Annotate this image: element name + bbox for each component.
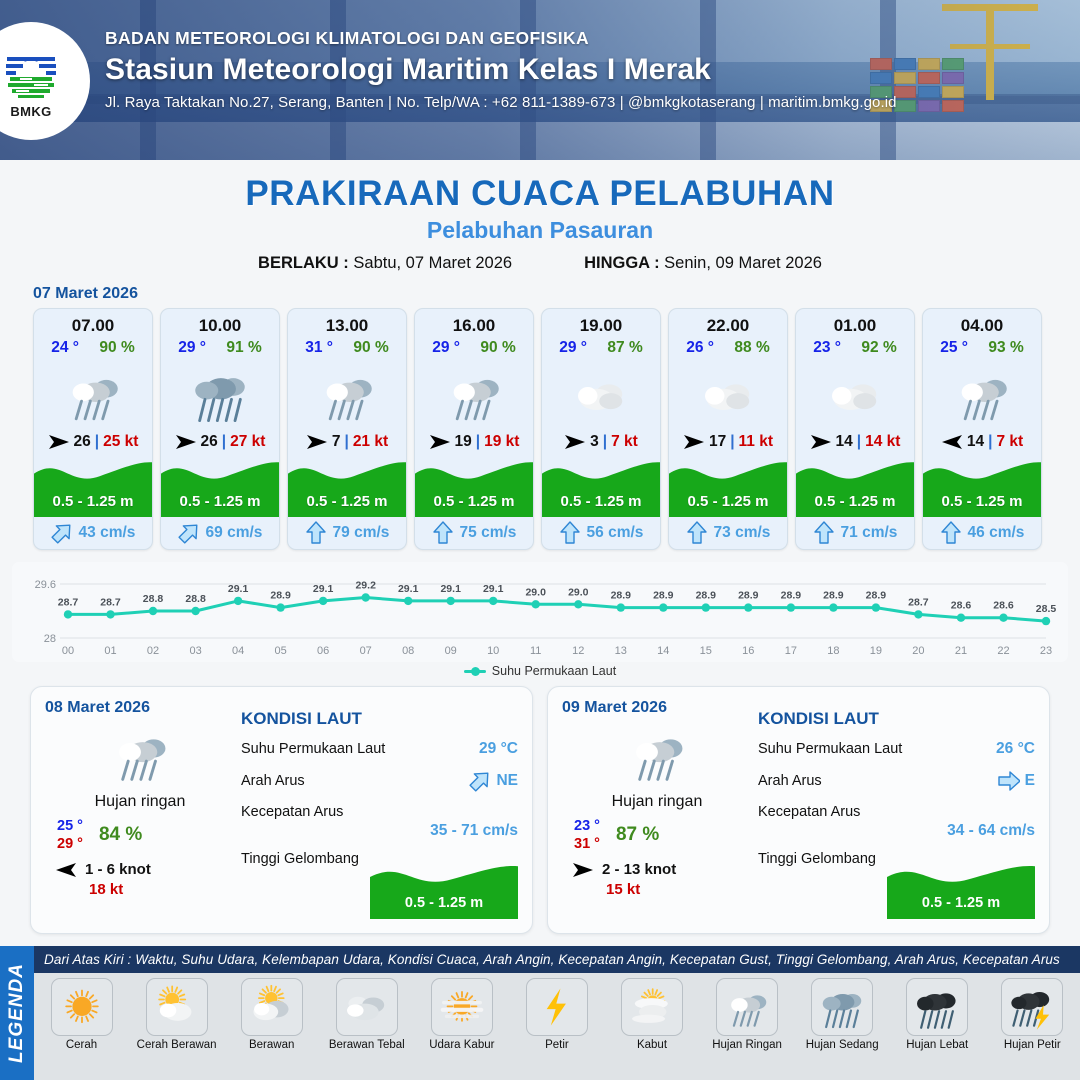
card-time: 22.00 (669, 309, 787, 336)
sea-wave-value: 0.5 - 1.25 m (887, 895, 1035, 911)
card-wind: 17 | 11 kt (669, 433, 787, 455)
validity-row: BERLAKU : Sabtu, 07 Maret 2026 HINGGA : … (0, 254, 1080, 273)
svg-text:28.7: 28.7 (100, 596, 121, 608)
haze-icon (434, 983, 490, 1031)
valid-from-value: Sabtu, 07 Maret 2026 (353, 254, 512, 272)
light-rain-icon (438, 364, 510, 426)
sea-sst-value: 26 °C (996, 740, 1035, 758)
legend-icon-box (716, 978, 778, 1036)
svg-text:29.1: 29.1 (398, 583, 419, 595)
forecast-card[interactable]: 01.00 23 ° 92 % 14 | 14 kt 0.5 - 1.25 m (795, 308, 915, 550)
daily-forecast-card[interactable]: 09 Maret 2026 Hujan ringan 23 ° 31 ° 87 … (547, 686, 1050, 934)
card-wind: 3 | 7 kt (542, 433, 660, 455)
legend-item: Petir (515, 978, 599, 1051)
day-temp-max: 29 ° (57, 835, 83, 853)
svg-text:05: 05 (274, 645, 286, 657)
day-temp-min: 23 ° (574, 817, 600, 835)
card-wind: 19 | 19 kt (415, 433, 533, 455)
day-wind-range: 1 - 6 knot (85, 861, 151, 878)
svg-text:28.6: 28.6 (951, 600, 972, 612)
svg-text:09: 09 (445, 645, 457, 657)
legend-item: Berawan Tebal (325, 978, 409, 1051)
sea-current-speed-value-row: 35 - 71 cm/s (241, 822, 518, 840)
thunderstorm-icon (1004, 983, 1060, 1031)
card-wave-height: 0.5 - 1.25 m (288, 493, 406, 510)
svg-text:15: 15 (700, 645, 712, 657)
current-direction-north-icon (940, 521, 962, 545)
legend-note: Dari Atas Kiri : Waktu, Suhu Udara, Kele… (34, 946, 1080, 973)
day-gust: 18 kt (45, 881, 235, 898)
svg-text:28: 28 (44, 633, 56, 645)
card-current-speed: 56 cm/s (587, 524, 644, 542)
sea-conditions-title: KONDISI LAUT (758, 709, 1035, 729)
current-direction-north-icon (686, 521, 708, 545)
svg-text:13: 13 (615, 645, 627, 657)
sea-current-speed-row: Kecepatan Arus (758, 804, 1035, 820)
light-rain-icon (620, 723, 694, 787)
card-temp-humidity: 29 ° 91 % (161, 336, 279, 357)
card-time: 19.00 (542, 309, 660, 336)
svg-text:28.8: 28.8 (185, 593, 206, 605)
card-current-speed: 73 cm/s (714, 524, 771, 542)
card-wave: 0.5 - 1.25 m (161, 455, 279, 517)
card-gust-speed: 19 kt (484, 433, 519, 451)
legend-item-label: Cerah Berawan (135, 1039, 219, 1051)
card-wind: 14 | 7 kt (923, 433, 1041, 455)
card-gust-speed: 7 kt (611, 433, 638, 451)
card-temp-humidity: 26 ° 88 % (669, 336, 787, 357)
svg-text:20: 20 (912, 645, 924, 657)
legend-side-bar: LEGENDA (0, 946, 34, 1080)
day-date: 09 Maret 2026 (562, 699, 752, 717)
sea-current-dir-value: NE (496, 772, 518, 790)
card-weather-icon (669, 357, 787, 433)
valid-from: BERLAKU : Sabtu, 07 Maret 2026 (258, 254, 512, 273)
page-title: PRAKIRAAN CUACA PELABUHAN (0, 174, 1080, 214)
card-wind-direction: 26 (74, 433, 91, 451)
svg-text:29.0: 29.0 (568, 586, 589, 598)
legend-item: Hujan Petir (990, 978, 1074, 1051)
card-current-speed: 69 cm/s (206, 524, 263, 542)
svg-text:28.5: 28.5 (1036, 603, 1057, 615)
day-wind-range: 2 - 13 knot (602, 861, 676, 878)
svg-text:02: 02 (147, 645, 159, 657)
sea-wave-graphic: 0.5 - 1.25 m (887, 859, 1035, 919)
legend-item-label: Hujan Ringan (705, 1039, 789, 1051)
svg-text:01: 01 (104, 645, 116, 657)
current-direction-northeast-icon (469, 769, 491, 793)
day-temperature-block: 23 ° 31 ° 87 % (562, 817, 752, 853)
svg-text:04: 04 (232, 645, 244, 657)
card-wave-height: 0.5 - 1.25 m (796, 493, 914, 510)
legend-item: Hujan Sedang (800, 978, 884, 1051)
thick-cloud-icon (339, 983, 395, 1031)
card-wave-height: 0.5 - 1.25 m (542, 493, 660, 510)
card-current-speed: 79 cm/s (333, 524, 390, 542)
sst-chart: 29.62828.70028.70128.80228.80329.10428.9… (12, 562, 1068, 662)
legend-item: Cerah Berawan (135, 978, 219, 1051)
lightning-icon (529, 983, 585, 1031)
page-subtitle: Pelabuhan Pasauran (0, 217, 1080, 244)
legend-icon-box (241, 978, 303, 1036)
wind-direction-east-icon (306, 434, 328, 450)
svg-text:10: 10 (487, 645, 499, 657)
card-gust-speed: 7 kt (996, 433, 1023, 451)
card-wind-direction: 26 (201, 433, 218, 451)
svg-text:16: 16 (742, 645, 754, 657)
card-wave-height: 0.5 - 1.25 m (34, 493, 152, 510)
svg-text:28.9: 28.9 (653, 590, 674, 602)
legend-marker-icon (464, 670, 486, 673)
card-wave-height: 0.5 - 1.25 m (923, 493, 1041, 510)
svg-text:28.7: 28.7 (908, 596, 929, 608)
station-name: Stasiun Meteorologi Maritim Kelas I Mera… (105, 53, 1055, 87)
legend-item-label: Berawan (230, 1039, 314, 1051)
current-direction-north-icon (432, 521, 454, 545)
sea-conditions-title: KONDISI LAUT (241, 709, 518, 729)
card-time: 04.00 (923, 309, 1041, 336)
day-temp-min: 25 ° (57, 817, 83, 835)
forecast-card[interactable]: 16.00 29 ° 90 % 19 | 19 kt 0.5 - 1.25 m (414, 308, 534, 550)
card-temp-humidity: 29 ° 90 % (415, 336, 533, 357)
fog-icon (624, 983, 680, 1031)
sea-current-dir-value-wrap: E (998, 769, 1035, 793)
light-rain-icon (57, 364, 129, 426)
sst-chart-svg: 29.62828.70028.70128.80228.80329.10428.9… (16, 568, 1064, 660)
moderate-rain-icon (184, 364, 256, 426)
forecast-card[interactable]: 22.00 26 ° 88 % 17 | 11 kt 0.5 - 1.25 m (668, 308, 788, 550)
legend-body: Dari Atas Kiri : Waktu, Suhu Udara, Kele… (34, 946, 1080, 1080)
card-wave: 0.5 - 1.25 m (415, 455, 533, 517)
current-direction-east-icon (998, 769, 1020, 793)
card-humidity: 93 % (988, 339, 1023, 357)
svg-text:29.1: 29.1 (440, 583, 461, 595)
card-wave: 0.5 - 1.25 m (923, 455, 1041, 517)
agency-name: BADAN METEOROLOGI KLIMATOLOGI DAN GEOFIS… (105, 28, 1055, 49)
day-left-panel: 09 Maret 2026 Hujan ringan 23 ° 31 ° 87 … (562, 699, 752, 921)
card-current: 79 cm/s (288, 517, 406, 549)
day-humidity: 84 % (99, 824, 142, 846)
daily-forecast-card[interactable]: 08 Maret 2026 Hujan ringan 25 ° 29 ° 84 … (30, 686, 533, 934)
day-temperature-block: 25 ° 29 ° 84 % (45, 817, 235, 853)
card-humidity: 87 % (607, 339, 642, 357)
svg-text:29.6: 29.6 (35, 579, 56, 591)
svg-text:29.1: 29.1 (483, 583, 504, 595)
day-gust: 15 kt (562, 881, 752, 898)
svg-text:29.0: 29.0 (525, 586, 546, 598)
light-rain-icon (946, 364, 1018, 426)
title-block: PRAKIRAAN CUACA PELABUHAN Pelabuhan Pasa… (0, 160, 1080, 273)
svg-text:08: 08 (402, 645, 414, 657)
legend-items: Cerah Cerah Berawan Berawan Berawan Teba… (34, 973, 1080, 1080)
card-wind-direction: 14 (967, 433, 984, 451)
card-wind: 14 | 14 kt (796, 433, 914, 455)
current-direction-north-icon (305, 521, 327, 545)
card-current: 71 cm/s (796, 517, 914, 549)
forecast-card[interactable]: 19.00 29 ° 87 % 3 | 7 kt 0.5 - 1.25 m (541, 308, 661, 550)
sea-current-speed-label: Kecepatan Arus (758, 804, 860, 820)
card-temp-humidity: 29 ° 87 % (542, 336, 660, 357)
card-temperature: 29 ° (432, 339, 460, 357)
card-wind-separator: | (222, 433, 226, 451)
card-temp-humidity: 23 ° 92 % (796, 336, 914, 357)
legend-item-label: Hujan Sedang (800, 1039, 884, 1051)
card-temperature: 29 ° (559, 339, 587, 357)
svg-text:29.2: 29.2 (355, 580, 376, 592)
card-weather-icon (288, 357, 406, 433)
sea-current-speed-value: 35 - 71 cm/s (430, 822, 518, 840)
card-weather-icon (542, 357, 660, 433)
legend-icon-box (1001, 978, 1063, 1036)
card-gust-speed: 27 kt (230, 433, 265, 451)
card-weather-icon (34, 357, 152, 433)
svg-text:28.9: 28.9 (611, 590, 632, 602)
legend-icon-box (526, 978, 588, 1036)
wind-direction-east-icon (572, 862, 594, 878)
sea-current-dir-value-wrap: NE (469, 769, 518, 793)
chart-legend-label: Suhu Permukaan Laut (492, 664, 616, 678)
sea-sst-row: Suhu Permukaan Laut 26 °C (758, 740, 1035, 758)
sea-sst-row: Suhu Permukaan Laut 29 °C (241, 740, 518, 758)
legend-icon-box (146, 978, 208, 1036)
card-gust-speed: 21 kt (353, 433, 388, 451)
header-text-block: BADAN METEOROLOGI KLIMATOLOGI DAN GEOFIS… (105, 28, 1055, 111)
legend-item-label: Cerah (40, 1039, 124, 1051)
day-humidity: 87 % (616, 824, 659, 846)
day-condition: Hujan ringan (45, 793, 235, 811)
card-temperature: 31 ° (305, 339, 333, 357)
card-humidity: 92 % (861, 339, 896, 357)
svg-text:07: 07 (360, 645, 372, 657)
sun-icon (54, 983, 110, 1031)
card-wind-separator: | (344, 433, 348, 451)
sea-sst-label: Suhu Permukaan Laut (758, 741, 902, 757)
wind-direction-east-icon (175, 434, 197, 450)
card-humidity: 88 % (734, 339, 769, 357)
card-wave: 0.5 - 1.25 m (542, 455, 660, 517)
svg-text:19: 19 (870, 645, 882, 657)
legend-icon-box (51, 978, 113, 1036)
card-wind-separator: | (988, 433, 992, 451)
card-current-speed: 71 cm/s (841, 524, 898, 542)
card-humidity: 90 % (480, 339, 515, 357)
valid-from-label: BERLAKU : (258, 254, 349, 272)
card-wave: 0.5 - 1.25 m (34, 455, 152, 517)
card-time: 01.00 (796, 309, 914, 336)
svg-text:28.9: 28.9 (866, 590, 887, 602)
cloudy-icon (692, 364, 764, 426)
legend-item-label: Hujan Lebat (895, 1039, 979, 1051)
card-wave-height: 0.5 - 1.25 m (669, 493, 787, 510)
current-direction-northeast-icon (51, 521, 73, 545)
legend-icon-box (336, 978, 398, 1036)
sea-wave-graphic: 0.5 - 1.25 m (370, 859, 518, 919)
day-sea-panel: KONDISI LAUT Suhu Permukaan Laut 26 °C A… (752, 699, 1035, 921)
card-wind-separator: | (95, 433, 99, 451)
svg-text:11: 11 (530, 645, 541, 657)
card-wind-direction: 14 (836, 433, 853, 451)
hourly-forecast-cards: 07.00 24 ° 90 % 26 | 25 kt 0.5 - 1.25 m (0, 308, 1080, 550)
card-humidity: 91 % (226, 339, 261, 357)
sea-current-speed-row: Kecepatan Arus (241, 804, 518, 820)
wind-direction-east-icon (429, 434, 451, 450)
card-wave: 0.5 - 1.25 m (669, 455, 787, 517)
legend-side-label: LEGENDA (6, 963, 28, 1063)
legend-item-label: Petir (515, 1039, 599, 1051)
day-left-panel: 08 Maret 2026 Hujan ringan 25 ° 29 ° 84 … (45, 699, 235, 921)
card-current-speed: 46 cm/s (968, 524, 1025, 542)
svg-text:12: 12 (572, 645, 584, 657)
card-time: 07.00 (34, 309, 152, 336)
card-temperature: 24 ° (51, 339, 79, 357)
card-current: 75 cm/s (415, 517, 533, 549)
sea-current-dir-value: E (1025, 772, 1035, 790)
heavy-rain-icon (909, 983, 965, 1031)
svg-text:23: 23 (1040, 645, 1052, 657)
card-wind: 26 | 27 kt (161, 433, 279, 455)
svg-text:28.9: 28.9 (270, 590, 291, 602)
card-wave: 0.5 - 1.25 m (796, 455, 914, 517)
sea-wave-value: 0.5 - 1.25 m (370, 895, 518, 911)
cloud-sun-icon (244, 983, 300, 1031)
wind-direction-east-icon (810, 434, 832, 450)
day-temp-range: 25 ° 29 ° (57, 817, 83, 853)
card-weather-icon (796, 357, 914, 433)
legend-icon-box (906, 978, 968, 1036)
card-wind-separator: | (730, 433, 734, 451)
day-wind: 2 - 13 knot (562, 861, 752, 878)
page-header: BMKG BADAN METEOROLOGI KLIMATOLOGI DAN G… (0, 0, 1080, 160)
day-condition: Hujan ringan (562, 793, 752, 811)
card-wind-separator: | (476, 433, 480, 451)
sea-current-speed-label: Kecepatan Arus (241, 804, 343, 820)
svg-text:14: 14 (657, 645, 669, 657)
svg-text:28.9: 28.9 (781, 590, 802, 602)
sea-wave-label: Tinggi Gelombang (241, 851, 359, 867)
card-wind-direction: 17 (709, 433, 726, 451)
card-temp-humidity: 24 ° 90 % (34, 336, 152, 357)
forecast-card[interactable]: 10.00 29 ° 91 % 26 | 27 kt 0.5 - 1.25 m (160, 308, 280, 550)
card-current: 43 cm/s (34, 517, 152, 549)
card-weather-icon (923, 357, 1041, 433)
moderate-rain-icon (814, 983, 870, 1031)
forecast-date-label: 07 Maret 2026 (33, 285, 1080, 303)
svg-text:17: 17 (785, 645, 797, 657)
card-weather-icon (415, 357, 533, 433)
legend-icon-box (621, 978, 683, 1036)
card-wind-separator: | (857, 433, 861, 451)
card-temperature: 23 ° (813, 339, 841, 357)
wind-direction-east-icon (48, 434, 70, 450)
sea-wave-label: Tinggi Gelombang (758, 851, 876, 867)
card-temperature: 29 ° (178, 339, 206, 357)
svg-text:28.8: 28.8 (143, 593, 164, 605)
cloudy-icon (819, 364, 891, 426)
card-humidity: 90 % (99, 339, 134, 357)
card-wave-height: 0.5 - 1.25 m (161, 493, 279, 510)
light-rain-icon (719, 983, 775, 1031)
legend-item: Hujan Lebat (895, 978, 979, 1051)
legend-item: Cerah (40, 978, 124, 1051)
valid-to: HINGGA : Senin, 09 Maret 2026 (584, 254, 822, 273)
card-wave: 0.5 - 1.25 m (288, 455, 406, 517)
legend-item-label: Kabut (610, 1039, 694, 1051)
current-direction-north-icon (813, 521, 835, 545)
sea-current-speed-value: 34 - 64 cm/s (947, 822, 1035, 840)
card-temperature: 25 ° (940, 339, 968, 357)
wind-direction-east-icon (683, 434, 705, 450)
day-temp-range: 23 ° 31 ° (574, 817, 600, 853)
cloudy-icon (565, 364, 637, 426)
chart-legend: Suhu Permukaan Laut (0, 664, 1080, 678)
sea-sst-label: Suhu Permukaan Laut (241, 741, 385, 757)
legend-item: Udara Kabur (420, 978, 504, 1051)
svg-text:18: 18 (827, 645, 839, 657)
legend-item: Berawan (230, 978, 314, 1051)
card-gust-speed: 25 kt (103, 433, 138, 451)
forecast-card[interactable]: 13.00 31 ° 90 % 7 | 21 kt 0.5 - 1.25 m (287, 308, 407, 550)
sea-current-speed-value-row: 34 - 64 cm/s (758, 822, 1035, 840)
legend-icon-box (431, 978, 493, 1036)
card-gust-speed: 14 kt (865, 433, 900, 451)
card-current: 56 cm/s (542, 517, 660, 549)
card-temperature: 26 ° (686, 339, 714, 357)
legend-icon-box (811, 978, 873, 1036)
wind-direction-west-icon (941, 434, 963, 450)
sea-current-dir-row: Arah Arus E (758, 769, 1035, 793)
contact-info: Jl. Raya Taktakan No.27, Serang, Banten … (105, 94, 1055, 111)
legend-item-label: Udara Kabur (420, 1039, 504, 1051)
sea-sst-value: 29 °C (479, 740, 518, 758)
current-direction-northeast-icon (178, 521, 200, 545)
svg-text:06: 06 (317, 645, 329, 657)
svg-text:29.1: 29.1 (228, 583, 249, 595)
forecast-card[interactable]: 07.00 24 ° 90 % 26 | 25 kt 0.5 - 1.25 m (33, 308, 153, 550)
card-current-speed: 75 cm/s (460, 524, 517, 542)
sun-cloud-icon (149, 983, 205, 1031)
legend-item: Kabut (610, 978, 694, 1051)
legend-strip: LEGENDA Dari Atas Kiri : Waktu, Suhu Uda… (0, 946, 1080, 1080)
day-weather-icon (45, 719, 235, 791)
svg-text:21: 21 (955, 645, 967, 657)
card-time: 16.00 (415, 309, 533, 336)
legend-item: Hujan Ringan (705, 978, 789, 1051)
svg-text:28.9: 28.9 (738, 590, 759, 602)
legend-item-label: Berawan Tebal (325, 1039, 409, 1051)
legend-item-label: Hujan Petir (990, 1039, 1074, 1051)
bmkg-emblem-icon (0, 44, 62, 102)
svg-text:03: 03 (189, 645, 201, 657)
current-direction-north-icon (559, 521, 581, 545)
sea-current-dir-row: Arah Arus NE (241, 769, 518, 793)
card-current-speed: 43 cm/s (79, 524, 136, 542)
wind-direction-east-icon (564, 434, 586, 450)
sea-current-dir-label: Arah Arus (758, 773, 822, 789)
card-time: 13.00 (288, 309, 406, 336)
day-temp-max: 31 ° (574, 835, 600, 853)
card-current: 69 cm/s (161, 517, 279, 549)
wind-direction-west-icon (55, 862, 77, 878)
forecast-card[interactable]: 04.00 25 ° 93 % 14 | 7 kt 0.5 - 1.25 m (922, 308, 1042, 550)
card-wind: 7 | 21 kt (288, 433, 406, 455)
card-wind-separator: | (603, 433, 607, 451)
card-wind-direction: 19 (455, 433, 472, 451)
day-wind: 1 - 6 knot (45, 861, 235, 878)
svg-text:28.6: 28.6 (993, 600, 1014, 612)
card-temp-humidity: 31 ° 90 % (288, 336, 406, 357)
svg-text:28.9: 28.9 (696, 590, 717, 602)
card-humidity: 90 % (353, 339, 388, 357)
